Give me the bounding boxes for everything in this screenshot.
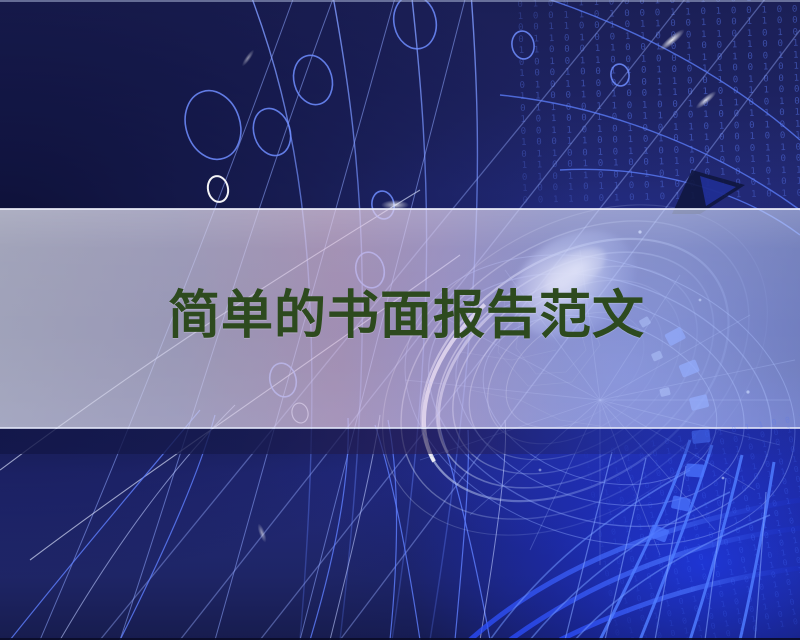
top-edge-line <box>0 0 800 2</box>
decorative-banner: 0 1 0 0 1 1 0 0 0 1 0 1 1 0 0 1 0 1 1 0 … <box>0 0 800 640</box>
title-band-top-border <box>0 208 800 210</box>
page-title: 简单的书面报告范文 <box>168 289 645 344</box>
dark-stripe-under-band <box>0 429 800 454</box>
